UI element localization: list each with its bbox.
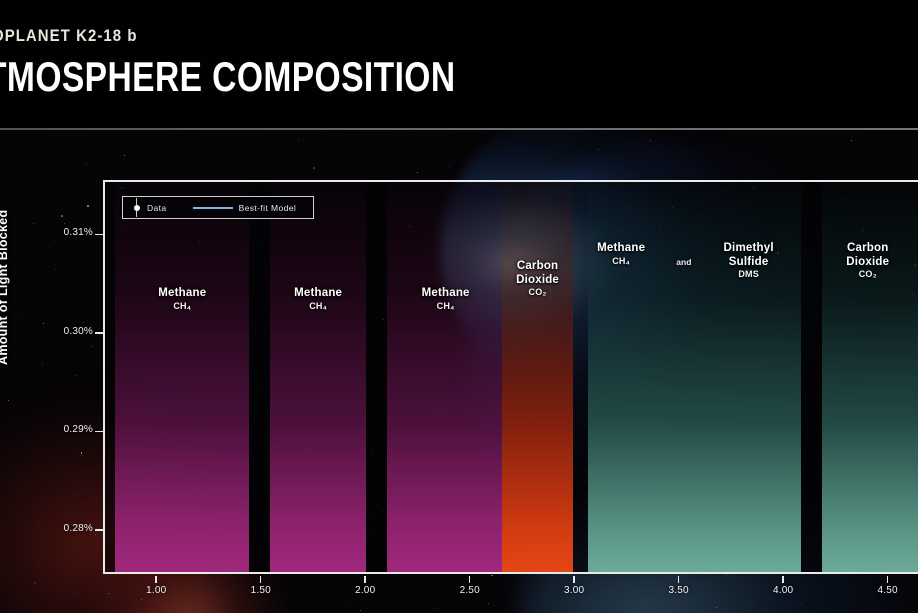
star-dot — [75, 375, 76, 376]
y-tick-label: 0.30% — [64, 326, 93, 337]
star-dot — [141, 599, 142, 600]
star-dot — [43, 323, 44, 324]
x-tick-mark — [469, 576, 471, 583]
star-dot — [417, 172, 418, 173]
star-dot — [650, 140, 651, 141]
star-dot — [449, 166, 450, 167]
star-dot — [87, 205, 89, 207]
model-curve-layer — [105, 182, 918, 574]
page-title: TMOSPHERE COMPOSITION — [0, 54, 456, 100]
y-tick-label: 0.31% — [64, 227, 93, 238]
x-tick-label: 3.50 — [662, 585, 696, 596]
y-tick-label: 0.29% — [64, 424, 93, 435]
x-tick-label: 2.00 — [348, 585, 382, 596]
star-dot — [42, 364, 43, 365]
star-dot — [81, 452, 83, 454]
star-dot — [801, 603, 802, 604]
x-tick-label: 2.50 — [453, 585, 487, 596]
chart-legend: Data Best-fit Model — [122, 196, 314, 219]
x-tick-mark — [364, 576, 366, 583]
star-dot — [851, 140, 852, 141]
kicker-subtitle: OPLANET K2-18 b — [0, 26, 138, 46]
legend-label-data: Data — [147, 203, 167, 213]
star-dot — [726, 574, 727, 575]
star-dot — [598, 149, 599, 150]
legend-item-data: Data — [123, 197, 167, 218]
x-tick-label: 1.50 — [244, 585, 278, 596]
y-tick-mark — [95, 529, 103, 531]
title-header: OPLANET K2-18 b TMOSPHERE COMPOSITION — [0, 0, 918, 129]
star-dot — [8, 400, 9, 401]
header-divider — [0, 128, 918, 130]
legend-item-model: Best-fit Model — [167, 197, 297, 218]
star-dot — [19, 313, 20, 314]
x-tick-mark — [887, 576, 889, 583]
y-tick-mark — [95, 332, 103, 334]
x-tick-mark — [678, 576, 680, 583]
x-tick-mark — [782, 576, 784, 583]
star-dot — [360, 610, 361, 611]
star-dot — [64, 223, 65, 224]
star-dot — [95, 534, 96, 535]
star-dot — [91, 346, 92, 347]
star-dot — [716, 607, 717, 608]
line-swatch-icon — [193, 207, 233, 209]
x-tick-label: 1.00 — [139, 585, 173, 596]
y-tick-mark — [95, 431, 103, 433]
spectrum-plot[interactable]: MethaneCH₄MethaneCH₄MethaneCH₄CarbonDiox… — [103, 180, 918, 574]
y-tick-label: 0.28% — [64, 523, 93, 534]
error-bar-point-icon — [130, 198, 144, 217]
star-dot — [581, 607, 582, 608]
star-dot — [34, 582, 36, 584]
star-dot — [313, 167, 315, 169]
x-tick-label: 4.50 — [871, 585, 905, 596]
y-tick-mark — [95, 234, 103, 236]
x-tick-mark — [155, 576, 157, 583]
star-dot — [55, 269, 56, 270]
space-background: Amount of Light Blocked 0.31%0.30%0.29%0… — [0, 129, 918, 613]
star-dot — [298, 140, 299, 141]
y-axis-title: Amount of Light Blocked — [0, 210, 10, 366]
x-tick-mark — [573, 576, 575, 583]
star-dot — [86, 164, 87, 165]
legend-label-model: Best-fit Model — [239, 203, 297, 213]
star-dot — [55, 240, 56, 241]
star-dot — [124, 155, 125, 156]
star-dot — [488, 603, 489, 604]
x-tick-mark — [260, 576, 262, 583]
star-dot — [345, 600, 346, 601]
star-dot — [83, 322, 84, 323]
star-dot — [61, 215, 63, 217]
star-dot — [108, 593, 109, 594]
x-tick-label: 4.00 — [766, 585, 800, 596]
star-dot — [33, 223, 34, 224]
star-dot — [491, 575, 493, 577]
star-dot — [437, 608, 438, 609]
x-tick-label: 3.00 — [557, 585, 591, 596]
